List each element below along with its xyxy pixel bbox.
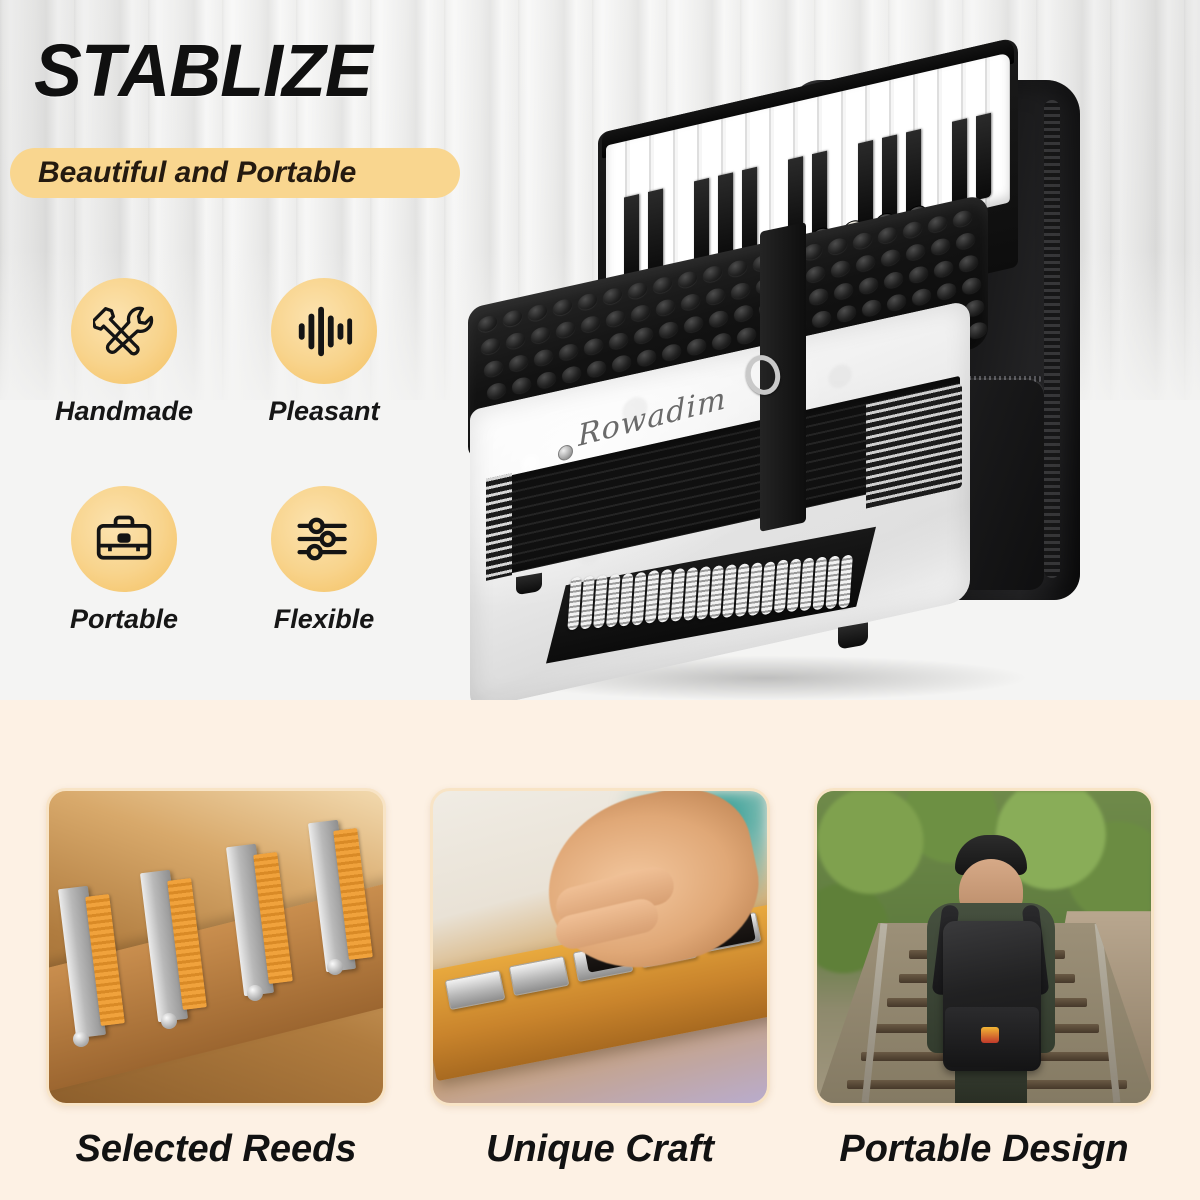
- bass-button[interactable]: [828, 237, 847, 256]
- bass-button[interactable]: [628, 281, 647, 300]
- bass-button[interactable]: [487, 381, 506, 400]
- bass-button[interactable]: [534, 348, 553, 367]
- bass-button[interactable]: [812, 309, 831, 328]
- bass-button[interactable]: [503, 309, 522, 328]
- bass-button[interactable]: [831, 259, 850, 278]
- bass-button[interactable]: [581, 314, 600, 333]
- feature-flexible: Flexible: [240, 486, 408, 635]
- bass-button[interactable]: [959, 254, 978, 273]
- bass-button[interactable]: [637, 348, 656, 367]
- bass-button[interactable]: [928, 214, 947, 233]
- card-caption: Selected Reeds: [46, 1128, 386, 1171]
- card-caption: Unique Craft: [430, 1128, 770, 1171]
- bass-button[interactable]: [506, 331, 525, 350]
- bass-button[interactable]: [631, 303, 650, 322]
- bass-button[interactable]: [878, 226, 897, 245]
- wrench-screwdriver-icon: [71, 278, 177, 384]
- accordion-foot: [838, 622, 868, 649]
- feature-handmade: Handmade: [40, 278, 208, 427]
- bass-button[interactable]: [531, 325, 550, 344]
- feature-label: Pleasant: [240, 396, 408, 427]
- bass-button[interactable]: [881, 248, 900, 267]
- bass-button[interactable]: [806, 264, 825, 283]
- feature-label: Handmade: [40, 396, 208, 427]
- bass-button[interactable]: [512, 376, 531, 395]
- bass-button[interactable]: [709, 309, 728, 328]
- feature-pleasant: Pleasant: [240, 278, 408, 427]
- bass-button[interactable]: [712, 331, 731, 350]
- bass-button[interactable]: [934, 259, 953, 278]
- bass-button[interactable]: [837, 304, 856, 323]
- reed-bolt: [73, 1031, 89, 1047]
- thumbnail-image: [46, 788, 386, 1106]
- bass-button[interactable]: [937, 281, 956, 300]
- bass-button[interactable]: [681, 292, 700, 311]
- bass-button[interactable]: [584, 337, 603, 356]
- bass-button[interactable]: [481, 337, 500, 356]
- bass-button[interactable]: [931, 237, 950, 256]
- infographic-page: STABLIZE Beautiful and Portable Handmade: [0, 0, 1200, 1200]
- thumbnail-image: [814, 788, 1154, 1106]
- feature-grid: Handmade Pleasant: [40, 278, 420, 648]
- sound-wave-icon: [271, 278, 377, 384]
- bass-button[interactable]: [912, 287, 931, 306]
- bass-button[interactable]: [853, 231, 872, 250]
- bass-button[interactable]: [862, 298, 881, 317]
- bass-button[interactable]: [731, 281, 750, 300]
- bass-button[interactable]: [484, 359, 503, 378]
- bass-button[interactable]: [659, 320, 678, 339]
- feature-label: Flexible: [240, 604, 408, 635]
- bass-button[interactable]: [528, 303, 547, 322]
- bass-button[interactable]: [684, 315, 703, 334]
- product-image: Rowadim: [430, 55, 1150, 700]
- bass-button[interactable]: [856, 253, 875, 272]
- bass-button[interactable]: [887, 293, 906, 312]
- case-seam: [1044, 100, 1060, 578]
- bass-button[interactable]: [556, 320, 575, 339]
- bass-button[interactable]: [859, 276, 878, 295]
- bass-button[interactable]: [962, 276, 981, 295]
- bass-button[interactable]: [909, 265, 928, 284]
- bass-button[interactable]: [656, 298, 675, 317]
- feature-portable: Portable: [40, 486, 208, 635]
- subtitle-banner: Beautiful and Portable: [10, 148, 460, 198]
- bass-button[interactable]: [737, 326, 756, 345]
- bellows-pleats-right: [866, 383, 962, 508]
- reed-bolt: [161, 1013, 177, 1029]
- bass-button[interactable]: [906, 242, 925, 261]
- bass-button[interactable]: [559, 342, 578, 361]
- bass-button[interactable]: [809, 287, 828, 306]
- bass-button[interactable]: [734, 303, 753, 322]
- bottom-section: Selected Reeds Unique Craft: [0, 700, 1200, 1200]
- page-title: STABLIZE: [34, 28, 372, 113]
- top-hero-section: STABLIZE Beautiful and Portable Handmade: [0, 0, 1200, 700]
- bass-button[interactable]: [587, 359, 606, 378]
- bellows-pleats-left: [486, 473, 512, 581]
- bass-button[interactable]: [478, 314, 497, 333]
- bass-button[interactable]: [834, 281, 853, 300]
- bass-button[interactable]: [968, 321, 987, 340]
- feature-label: Portable: [40, 604, 208, 635]
- card-caption: Portable Design: [814, 1128, 1154, 1171]
- bass-button[interactable]: [509, 353, 528, 372]
- bass-button[interactable]: [662, 342, 681, 361]
- thumbnail-image: [430, 788, 770, 1106]
- sliders-icon: [271, 486, 377, 592]
- bass-button[interactable]: [706, 287, 725, 306]
- card-portable-design[interactable]: Portable Design: [814, 788, 1154, 1171]
- person: [915, 835, 1065, 1105]
- bass-button[interactable]: [903, 220, 922, 239]
- bass-button[interactable]: [687, 337, 706, 356]
- reed-bolt: [247, 985, 263, 1001]
- bass-button[interactable]: [953, 209, 972, 228]
- feature-cards: Selected Reeds Unique Craft: [0, 788, 1200, 1171]
- briefcase-icon: [71, 486, 177, 592]
- bass-button[interactable]: [609, 331, 628, 350]
- bass-button[interactable]: [562, 365, 581, 384]
- bass-button[interactable]: [653, 275, 672, 294]
- reed-bolt: [327, 959, 343, 975]
- card-selected-reeds[interactable]: Selected Reeds: [46, 788, 386, 1171]
- bellows-pin: [838, 554, 853, 608]
- bass-button[interactable]: [537, 370, 556, 389]
- card-unique-craft[interactable]: Unique Craft: [430, 788, 770, 1171]
- bass-button[interactable]: [606, 309, 625, 328]
- bass-button[interactable]: [956, 231, 975, 250]
- bass-button[interactable]: [634, 326, 653, 345]
- subtitle-text: Beautiful and Portable: [38, 156, 356, 190]
- bass-button[interactable]: [678, 270, 697, 289]
- bass-button[interactable]: [884, 270, 903, 289]
- bass-button[interactable]: [728, 259, 747, 278]
- bass-button[interactable]: [603, 286, 622, 305]
- bass-button[interactable]: [703, 264, 722, 283]
- bass-button[interactable]: [553, 298, 572, 317]
- bass-button[interactable]: [578, 292, 597, 311]
- bass-button[interactable]: [612, 354, 631, 373]
- backpack-badge: [981, 1027, 999, 1043]
